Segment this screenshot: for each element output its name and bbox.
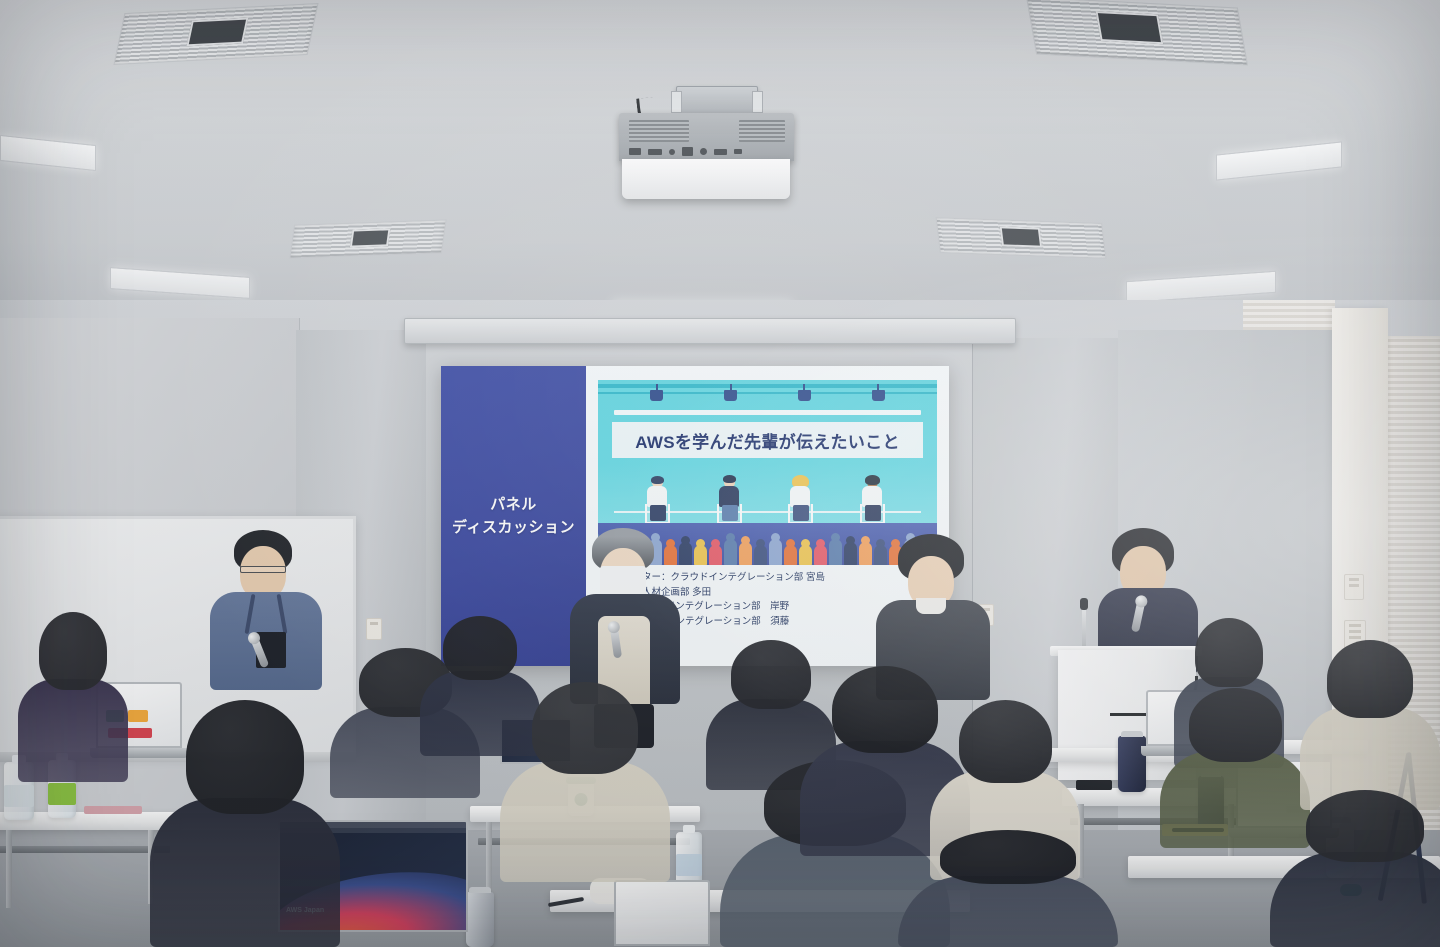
panelist-collar	[916, 598, 946, 614]
audience-head	[1327, 640, 1414, 718]
panelist-hair	[865, 475, 880, 485]
laptop-screen	[614, 880, 710, 946]
audience-torso	[500, 761, 670, 882]
travel-tumbler	[466, 892, 494, 947]
stage-lamp-icon	[650, 390, 663, 401]
panelist-torso	[862, 486, 882, 507]
stage-lamp-icon	[798, 390, 811, 401]
audience-member	[1300, 640, 1440, 810]
slide-headline: AWSを学んだ先輩が伝えたいこと	[612, 422, 923, 458]
stage-lamp-icon	[872, 390, 885, 401]
audience-head	[940, 830, 1076, 884]
illustration-audience-head	[739, 542, 752, 565]
panelist-torso	[719, 486, 739, 507]
panelist-legs	[650, 505, 666, 521]
panelist-hair	[651, 476, 664, 484]
hvac-vent	[289, 219, 447, 258]
slide-title-line1: パネル	[452, 493, 575, 516]
illustration-audience-head	[724, 539, 737, 565]
stage-lamp-icon	[724, 390, 737, 401]
audience-torso	[150, 798, 340, 947]
audience-torso	[1270, 852, 1440, 947]
panelist-legs	[722, 505, 738, 521]
panelist-hair	[723, 475, 736, 483]
audience-torso	[18, 679, 128, 782]
hvac-vent	[935, 217, 1106, 259]
illustration-audience-head	[769, 539, 782, 565]
illustration-audience-head	[814, 545, 827, 565]
stage-lights-group	[598, 390, 937, 401]
audience-member	[898, 830, 1118, 947]
projector-lens-housing	[622, 159, 790, 199]
ceiling-mounted-projector	[619, 113, 794, 161]
light-switch-plate[interactable]	[1344, 574, 1364, 600]
illustration-panelist	[786, 477, 820, 527]
smartphone[interactable]	[1076, 780, 1112, 790]
bottle-label	[4, 785, 34, 807]
illustration-panelists	[598, 477, 937, 527]
bottle-label	[48, 783, 76, 805]
illustration-top-rail	[598, 384, 937, 388]
panelist-torso	[790, 486, 810, 507]
illustration-title-rail	[614, 410, 921, 415]
projector-mount	[676, 86, 758, 114]
panelist-torso	[647, 486, 667, 507]
wall-outlet	[366, 618, 382, 640]
illustration-stage	[598, 485, 937, 527]
notebook-pad	[84, 806, 142, 814]
slide-title-line2: ディスカッション	[452, 516, 575, 539]
audience-head	[39, 612, 107, 690]
travel-tumbler	[1118, 736, 1146, 792]
audience-member	[18, 612, 128, 782]
illustration-panelist	[715, 477, 749, 527]
audience-head	[1306, 790, 1424, 862]
standing-presenter	[210, 530, 322, 690]
audience-head	[1195, 618, 1263, 687]
table-leg	[6, 830, 12, 908]
hvac-vent	[1026, 0, 1248, 66]
attendee-laptop-light[interactable]	[614, 880, 710, 946]
bottle-label	[676, 854, 702, 875]
illustration-audience-head	[859, 542, 872, 565]
illustration-audience-head	[754, 545, 767, 565]
illustration-audience-head	[694, 545, 707, 565]
audience-head	[832, 666, 937, 753]
audience-head	[532, 682, 637, 774]
illustration-panelist	[858, 477, 892, 527]
audience-member	[500, 682, 670, 882]
illustration-audience-head	[679, 542, 692, 565]
table-rail	[0, 846, 170, 853]
audience-head	[186, 700, 304, 814]
panelist-legs	[793, 505, 809, 521]
illustration-audience-head	[784, 545, 797, 565]
audience-head	[1189, 688, 1282, 762]
screen-housing	[404, 318, 1016, 344]
audience-member	[1270, 790, 1440, 947]
illustration-audience-head	[709, 545, 722, 565]
acoustic-tile-ceiling	[0, 0, 1440, 345]
eyeglasses-icon	[240, 566, 286, 573]
slide-section-title: パネル ディスカッション	[452, 493, 575, 540]
projector-ports	[629, 147, 742, 156]
audience-torso	[898, 876, 1118, 947]
audience-head	[959, 700, 1052, 783]
panelist-legs	[865, 505, 881, 521]
illustration-audience-head	[799, 545, 812, 565]
illustration-panelist	[643, 477, 677, 527]
audience-member	[150, 700, 340, 947]
audience-head	[443, 616, 517, 680]
illustration-audience-head	[844, 542, 857, 565]
seminar-room-photo: ​ パネル ディスカッション	[0, 0, 1440, 947]
illustration-audience-head	[829, 539, 842, 565]
hvac-vent	[113, 3, 318, 65]
